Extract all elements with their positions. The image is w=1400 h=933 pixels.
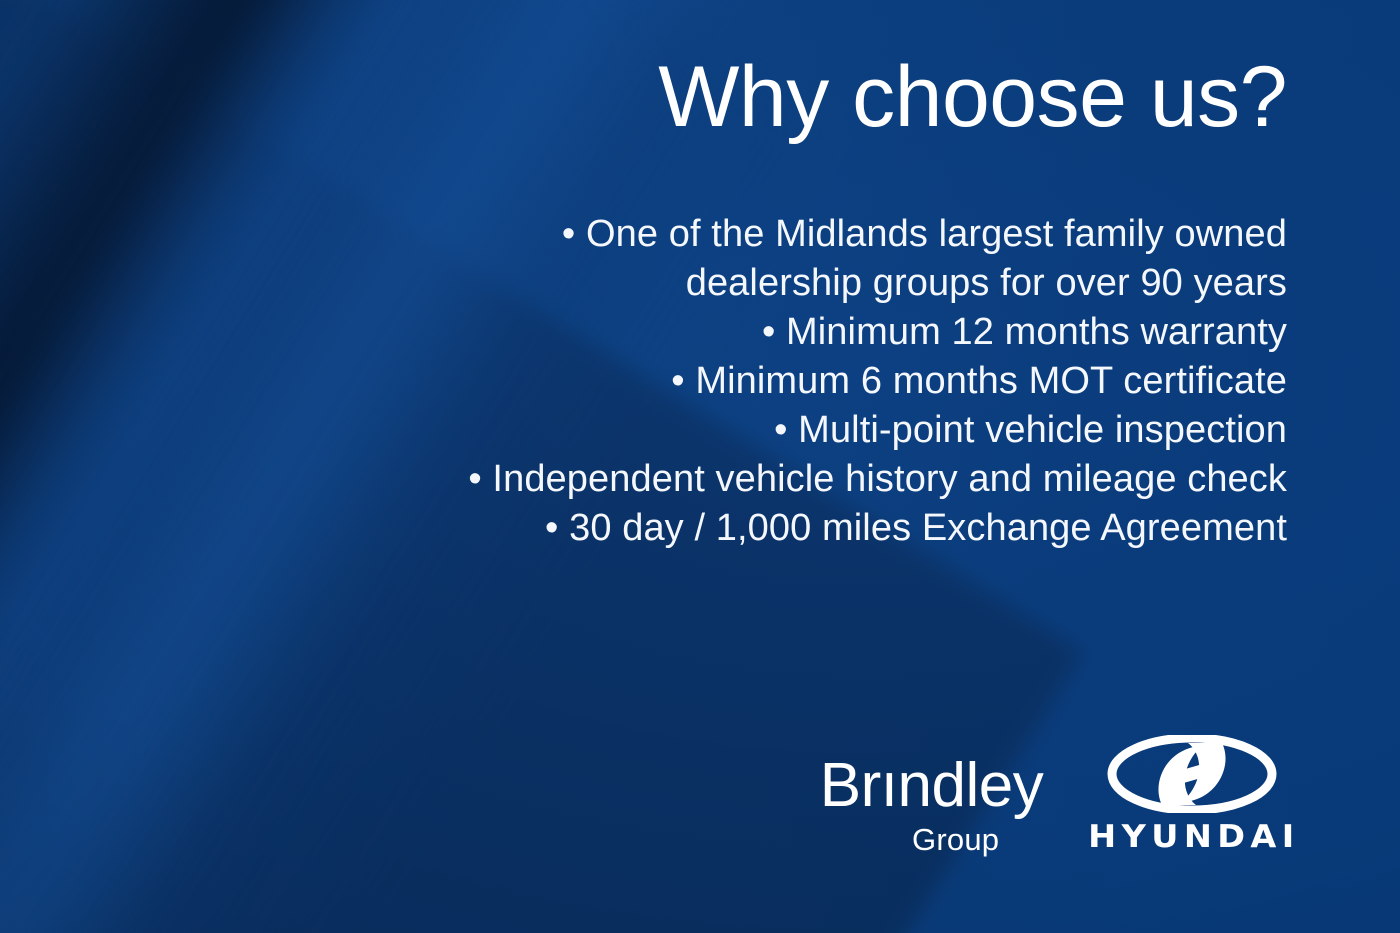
hyundai-logo: HYUNDAI	[1091, 735, 1292, 855]
logo-row: Brındley Group	[820, 735, 1292, 855]
list-item: • 30 day / 1,000 miles Exchange Agreemen…	[457, 504, 1287, 553]
slide-content: Why choose us? • One of the Midlands lar…	[0, 0, 1400, 933]
slide-title: Why choose us?	[0, 52, 1287, 142]
promotional-slide: Why choose us? • One of the Midlands lar…	[0, 0, 1400, 933]
list-item: • Minimum 6 months MOT certificate	[457, 357, 1287, 406]
hyundai-emblem-icon	[1104, 735, 1280, 813]
list-item: • Independent vehicle history and mileag…	[457, 455, 1287, 504]
brindley-wordmark: Brındley	[820, 755, 1043, 817]
benefits-list: • One of the Midlands largest family own…	[457, 210, 1287, 553]
brindley-group-logo: Brındley Group	[820, 755, 1043, 855]
brindley-group-subtext: Group	[912, 824, 999, 855]
list-item: • Multi-point vehicle inspection	[457, 406, 1287, 455]
hyundai-wordmark: HYUNDAI	[1088, 819, 1299, 855]
list-item: • One of the Midlands largest family own…	[457, 210, 1287, 308]
list-item: • Minimum 12 months warranty	[457, 308, 1287, 357]
